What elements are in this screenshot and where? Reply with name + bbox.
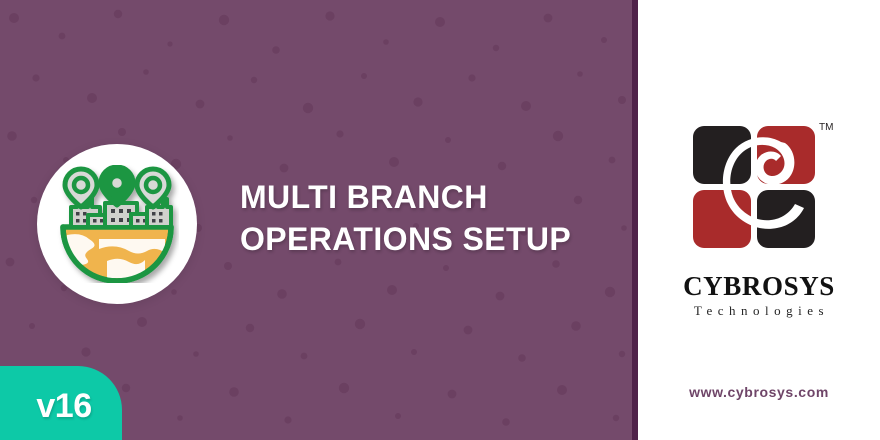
product-banner: MULTI BRANCH OPERATIONS SETUP v16 bbox=[0, 0, 880, 440]
brand-website-url[interactable]: www.cybrosys.com bbox=[638, 384, 880, 400]
product-title-line-1: MULTI BRANCH bbox=[240, 176, 620, 218]
brand-name: CYBROSYS bbox=[638, 272, 880, 300]
cybrosys-logo-mark: TM bbox=[685, 112, 833, 264]
cybrosys-logo: TM bbox=[685, 112, 833, 264]
product-title: MULTI BRANCH OPERATIONS SETUP bbox=[240, 176, 620, 260]
brand-tagline: Technologies bbox=[638, 303, 880, 319]
version-badge: v16 bbox=[0, 366, 122, 440]
trademark-symbol: TM bbox=[819, 122, 833, 133]
product-title-line-2: OPERATIONS SETUP bbox=[240, 218, 620, 260]
brand-block: TM CYBROSYS Technologies bbox=[638, 112, 880, 319]
right-panel: TM CYBROSYS Technologies www.cybrosys.co… bbox=[638, 0, 880, 440]
left-panel: MULTI BRANCH OPERATIONS SETUP v16 bbox=[0, 0, 632, 440]
version-label: v16 bbox=[30, 381, 91, 426]
product-icon-badge bbox=[37, 144, 197, 304]
multi-branch-globe-icon bbox=[55, 165, 179, 283]
